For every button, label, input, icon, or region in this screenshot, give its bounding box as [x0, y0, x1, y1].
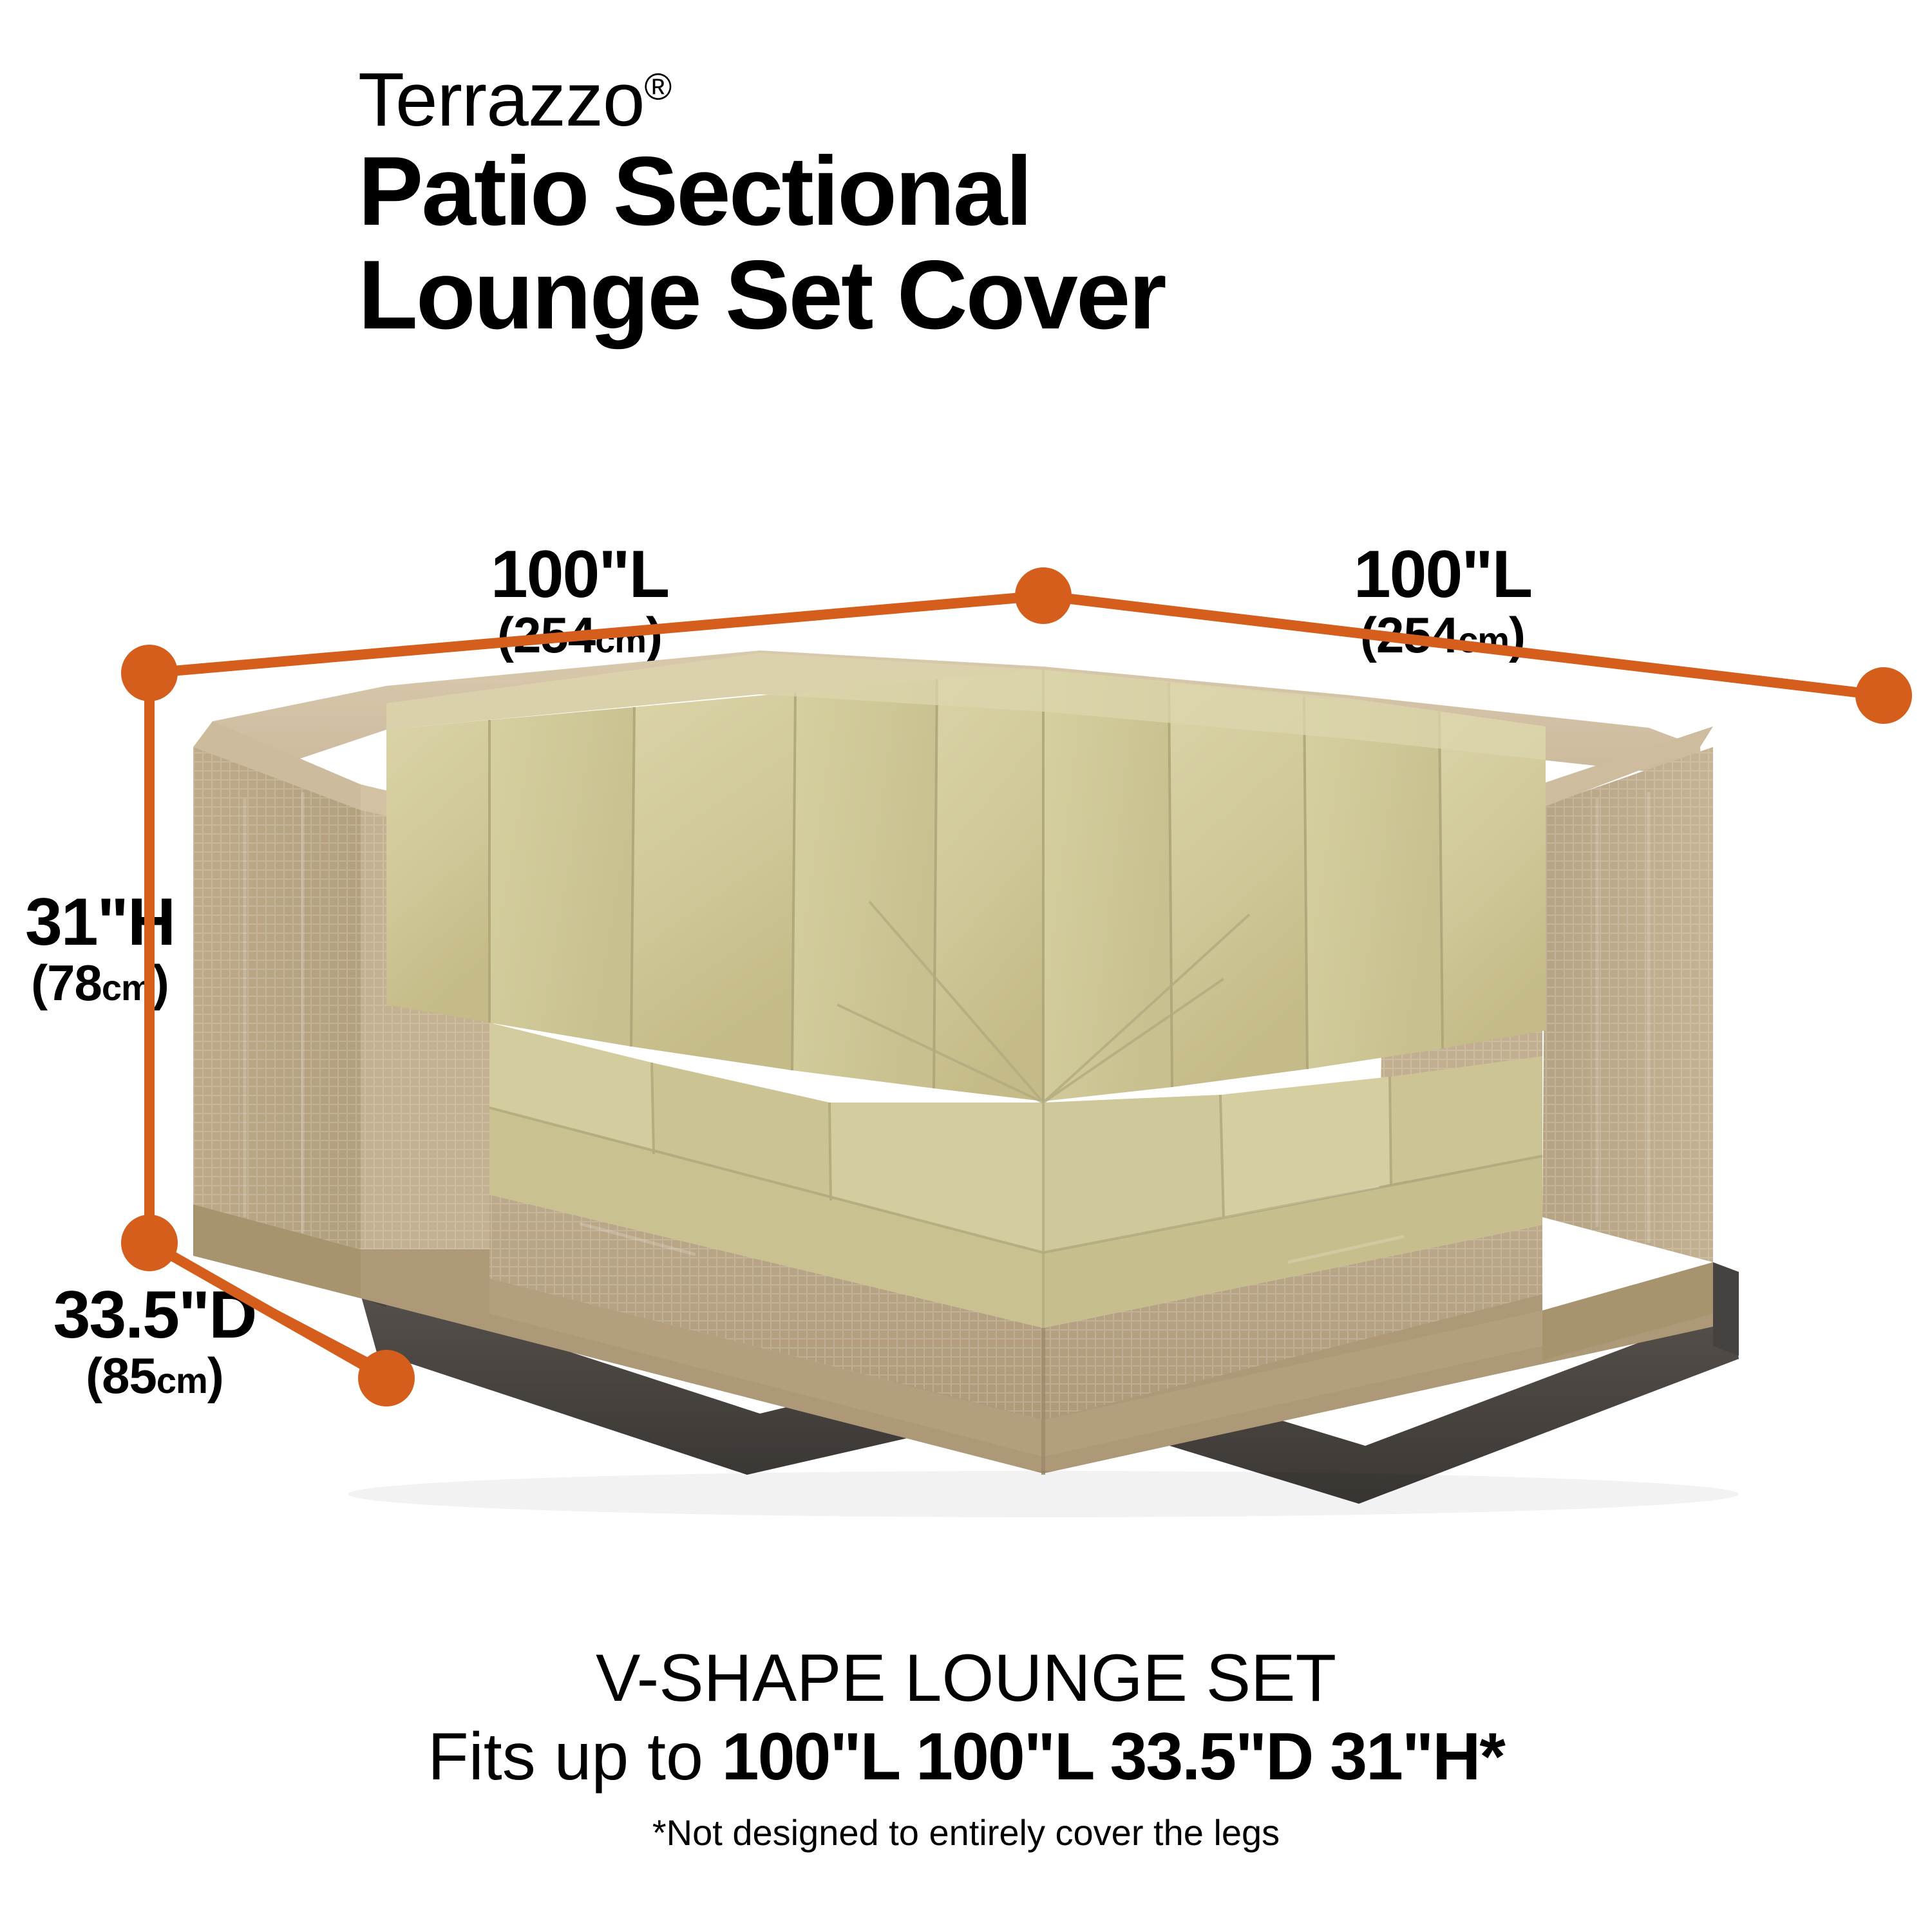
- length-left-leader-line: [149, 596, 1043, 673]
- callout-dot-apex: [1015, 567, 1072, 624]
- callout-dot-bottom-left: [121, 1215, 178, 1271]
- dimension-callout-lines: [0, 0, 1932, 1932]
- product-spec-image: Terrazzo® Patio Sectional Lounge Set Cov…: [0, 0, 1932, 1932]
- callout-dot-top-left: [121, 645, 178, 701]
- callout-dot-top-right: [1855, 667, 1912, 724]
- callout-dot-depth: [358, 1350, 415, 1406]
- length-right-leader-line: [1043, 596, 1884, 696]
